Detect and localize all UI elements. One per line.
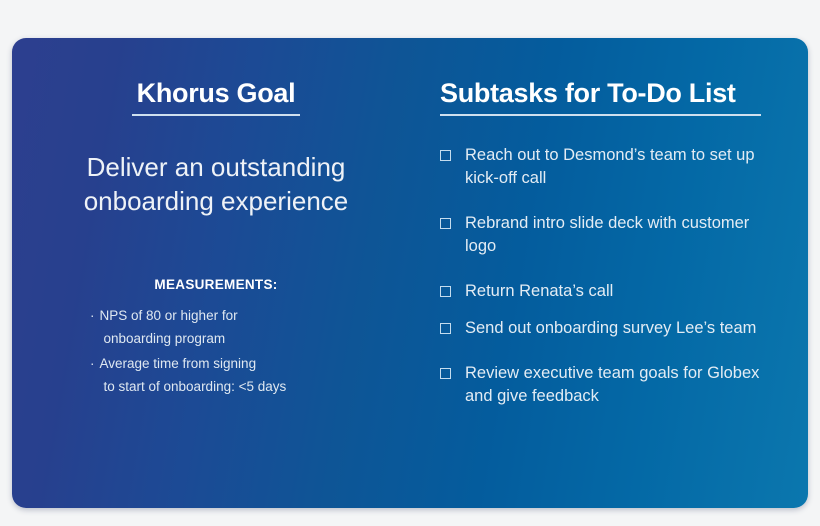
goal-statement-line-1: Deliver an outstanding xyxy=(36,150,396,184)
goal-heading-text: Khorus Goal xyxy=(137,78,296,108)
goal-heading-underline xyxy=(132,114,300,116)
task-item[interactable]: Review executive team goals for Globex a… xyxy=(440,362,792,408)
checkbox-icon[interactable] xyxy=(440,286,451,297)
measurement-line-1: Average time from signing xyxy=(100,356,257,371)
checkbox-icon[interactable] xyxy=(440,218,451,229)
checkbox-icon[interactable] xyxy=(440,323,451,334)
checkbox-icon[interactable] xyxy=(440,368,451,379)
subtasks-heading-text: Subtasks for To-Do List xyxy=(440,78,736,108)
measurement-item: · Average time from signing to start of … xyxy=(90,352,390,398)
task-label: Review executive team goals for Globex a… xyxy=(465,362,765,408)
bullet-icon: · xyxy=(90,304,95,327)
checkbox-icon[interactable] xyxy=(440,150,451,161)
subtasks-heading-underline xyxy=(440,114,761,116)
task-item[interactable]: Send out onboarding survey Lee’s team xyxy=(440,317,792,340)
goal-statement-line-2: onboarding experience xyxy=(36,184,396,218)
task-label: Reach out to Desmond’s team to set up ki… xyxy=(465,144,765,190)
measurement-item: · NPS of 80 or higher for onboarding pro… xyxy=(90,304,390,350)
measurement-line-2: to start of onboarding: <5 days xyxy=(100,375,391,398)
subtasks-column: Subtasks for To-Do List Reach out to Des… xyxy=(420,38,808,508)
task-label: Rebrand intro slide deck with customer l… xyxy=(465,212,765,258)
card-columns: Khorus Goal Deliver an outstanding onboa… xyxy=(12,38,808,508)
goal-column: Khorus Goal Deliver an outstanding onboa… xyxy=(12,38,420,508)
measurements-list: · NPS of 80 or higher for onboarding pro… xyxy=(90,304,390,400)
measurement-text: NPS of 80 or higher for onboarding progr… xyxy=(100,304,391,350)
bullet-icon: · xyxy=(90,352,95,375)
task-item[interactable]: Reach out to Desmond’s team to set up ki… xyxy=(440,144,792,190)
goal-statement: Deliver an outstanding onboarding experi… xyxy=(36,150,396,218)
task-item[interactable]: Rebrand intro slide deck with customer l… xyxy=(440,212,792,258)
goal-card: Khorus Goal Deliver an outstanding onboa… xyxy=(12,38,808,508)
measurement-line-1: NPS of 80 or higher for xyxy=(100,308,238,323)
measurement-line-2: onboarding program xyxy=(100,327,391,350)
goal-heading: Khorus Goal xyxy=(12,78,420,116)
subtasks-heading: Subtasks for To-Do List xyxy=(440,78,761,116)
task-label: Send out onboarding survey Lee’s team xyxy=(465,317,756,340)
subtasks-list: Reach out to Desmond’s team to set up ki… xyxy=(440,144,792,430)
measurements-title: MEASUREMENTS: xyxy=(12,277,420,292)
task-label: Return Renata’s call xyxy=(465,280,613,303)
task-item[interactable]: Return Renata’s call xyxy=(440,280,792,303)
measurement-text: Average time from signing to start of on… xyxy=(100,352,391,398)
